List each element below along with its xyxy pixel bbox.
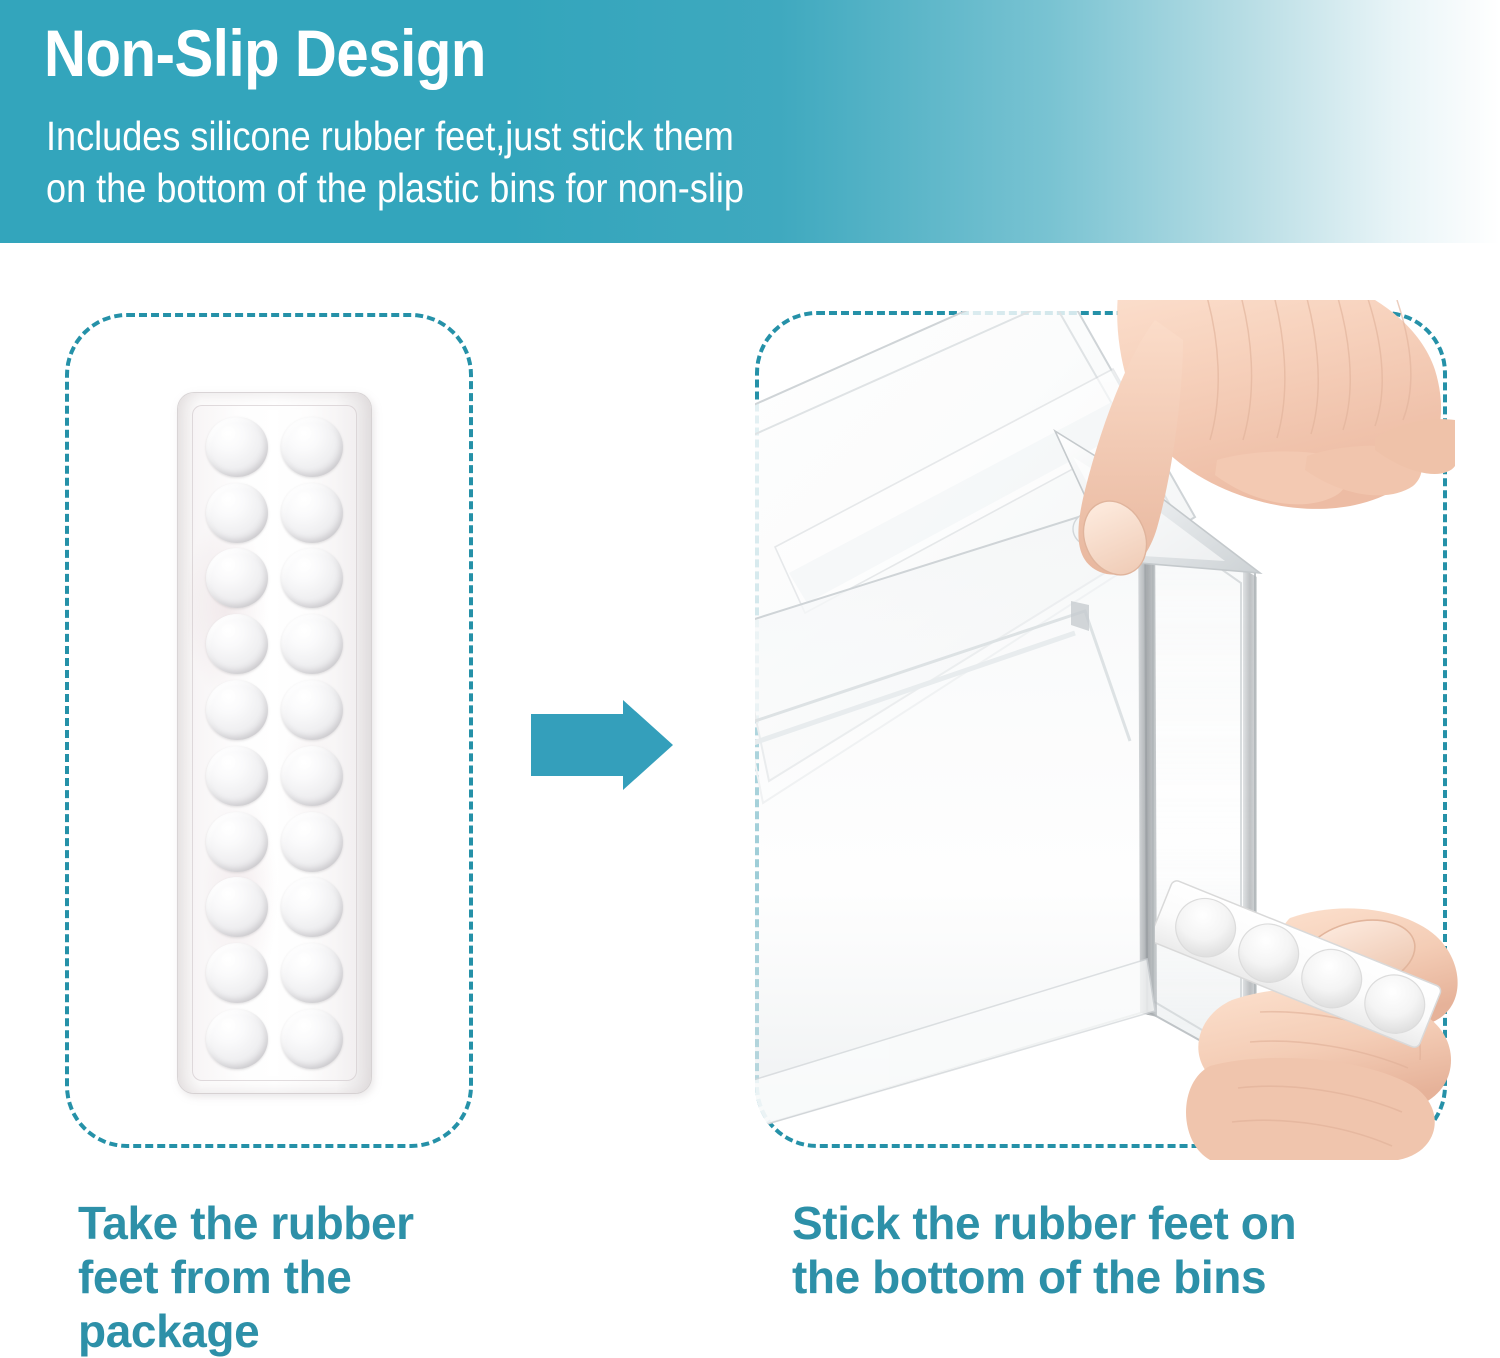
rubber-foot-dome xyxy=(281,877,343,937)
rubber-foot-dome xyxy=(206,417,268,477)
rubber-foot-dome xyxy=(281,417,343,477)
rubber-foot-dome xyxy=(206,943,268,1003)
rubber-foot-dome xyxy=(206,548,268,608)
step-1-caption-line-3: package xyxy=(78,1304,548,1358)
blister-pack-image xyxy=(178,393,371,1093)
rubber-foot-dome xyxy=(281,746,343,806)
step-1-caption-line-1: Take the rubber xyxy=(78,1196,548,1250)
rubber-foot-dome xyxy=(281,1009,343,1069)
strip-body xyxy=(1155,879,1442,1049)
rubber-foot-dome xyxy=(281,483,343,543)
rubber-foot-dome xyxy=(206,614,268,674)
rubber-foot-dome xyxy=(281,812,343,872)
header-banner: Non-Slip Design Includes silicone rubber… xyxy=(0,0,1500,243)
step-2-caption-line-1: Stick the rubber feet on xyxy=(792,1196,1472,1250)
rubber-feet-strip-image xyxy=(1155,875,1455,1065)
rubber-foot-dome xyxy=(206,483,268,543)
rubber-foot-dome xyxy=(281,680,343,740)
rubber-foot-dome xyxy=(281,943,343,1003)
header-subtitle: Includes silicone rubber feet,just stick… xyxy=(46,110,744,214)
step-2-caption-line-2: the bottom of the bins xyxy=(792,1250,1472,1304)
rubber-foot-dome xyxy=(206,680,268,740)
rubber-foot-dome xyxy=(206,812,268,872)
header-subtitle-line-1: Includes silicone rubber feet,just stick… xyxy=(46,110,744,162)
rubber-foot-dome xyxy=(206,877,268,937)
right-arrow-icon xyxy=(531,700,673,790)
page-title: Non-Slip Design xyxy=(44,14,486,92)
rubber-foot-dome xyxy=(206,1009,268,1069)
header-subtitle-line-2: on the bottom of the plastic bins for no… xyxy=(46,162,744,214)
step-1-caption-line-2: feet from the xyxy=(78,1250,548,1304)
step-2-caption: Stick the rubber feet on the bottom of t… xyxy=(792,1196,1472,1304)
rubber-foot-dome xyxy=(281,548,343,608)
hand-pressing-rubber-foot-image xyxy=(1005,300,1455,660)
rubber-foot-dome xyxy=(281,614,343,674)
rubber-feet-grid xyxy=(200,415,349,1071)
rubber-foot-dome xyxy=(206,746,268,806)
step-1-caption: Take the rubber feet from the package xyxy=(78,1196,548,1358)
